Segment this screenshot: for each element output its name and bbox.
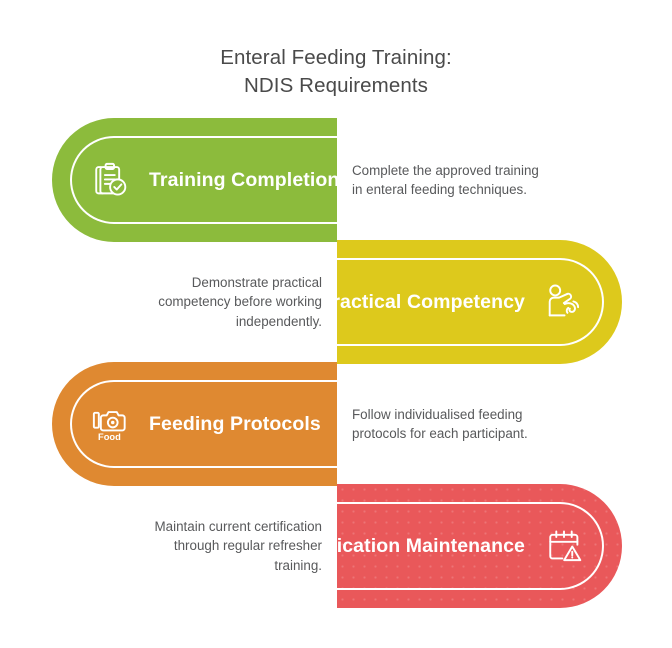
description-line: competency before working	[158, 292, 322, 312]
page-title-line-2: NDIS Requirements	[0, 72, 672, 100]
description-line: in enteral feeding techniques.	[352, 180, 527, 200]
description-line: training.	[274, 556, 322, 576]
step-bar-certification-maintenance[interactable]: Certification Maintenance	[337, 484, 622, 608]
food-icon-caption: Food	[98, 432, 121, 442]
description-line: independently.	[236, 312, 322, 332]
step-label-practical-competency: Practical Competency	[337, 291, 525, 314]
clipboard-check-icon	[88, 158, 132, 202]
step-row-certification-maintenance: Maintain current certification through r…	[0, 484, 672, 608]
description-line: Demonstrate practical	[192, 273, 322, 293]
step-description-practical-competency: Demonstrate practical competency before …	[72, 240, 322, 364]
step-bar-feeding-protocols[interactable]: Food Feeding Protocols	[52, 362, 337, 486]
step-row-feeding-protocols: Food Feeding Protocols Follow individual…	[0, 362, 672, 486]
step-label-certification-maintenance: Certification Maintenance	[337, 535, 525, 558]
step-label-training-completion: Training Completion	[149, 169, 337, 192]
step-label-feeding-protocols: Feeding Protocols	[149, 413, 321, 436]
description-line: protocols for each participant.	[352, 424, 528, 444]
caregiver-assist-icon	[542, 280, 586, 324]
step-description-certification-maintenance: Maintain current certification through r…	[72, 484, 322, 608]
description-line: Maintain current certification	[155, 517, 322, 537]
description-line: Follow individualised feeding	[352, 405, 522, 425]
calendar-warning-icon	[542, 524, 586, 568]
page-title-line-1: Enteral Feeding Training:	[0, 44, 672, 72]
infographic-canvas: Enteral Feeding Training: NDIS Requireme…	[0, 0, 672, 648]
description-line: through regular refresher	[174, 536, 322, 556]
step-bar-training-completion[interactable]: Training Completion	[52, 118, 337, 242]
step-row-training-completion: Training Completion Complete the approve…	[0, 118, 672, 242]
description-line: Complete the approved training	[352, 161, 539, 181]
food-camera-icon: Food	[88, 402, 132, 446]
page-title: Enteral Feeding Training: NDIS Requireme…	[0, 44, 672, 100]
step-description-feeding-protocols: Follow individualised feeding protocols …	[352, 362, 600, 486]
step-bar-practical-competency[interactable]: Practical Competency	[337, 240, 622, 364]
step-description-training-completion: Complete the approved training in entera…	[352, 118, 600, 242]
step-row-practical-competency: Demonstrate practical competency before …	[0, 240, 672, 364]
